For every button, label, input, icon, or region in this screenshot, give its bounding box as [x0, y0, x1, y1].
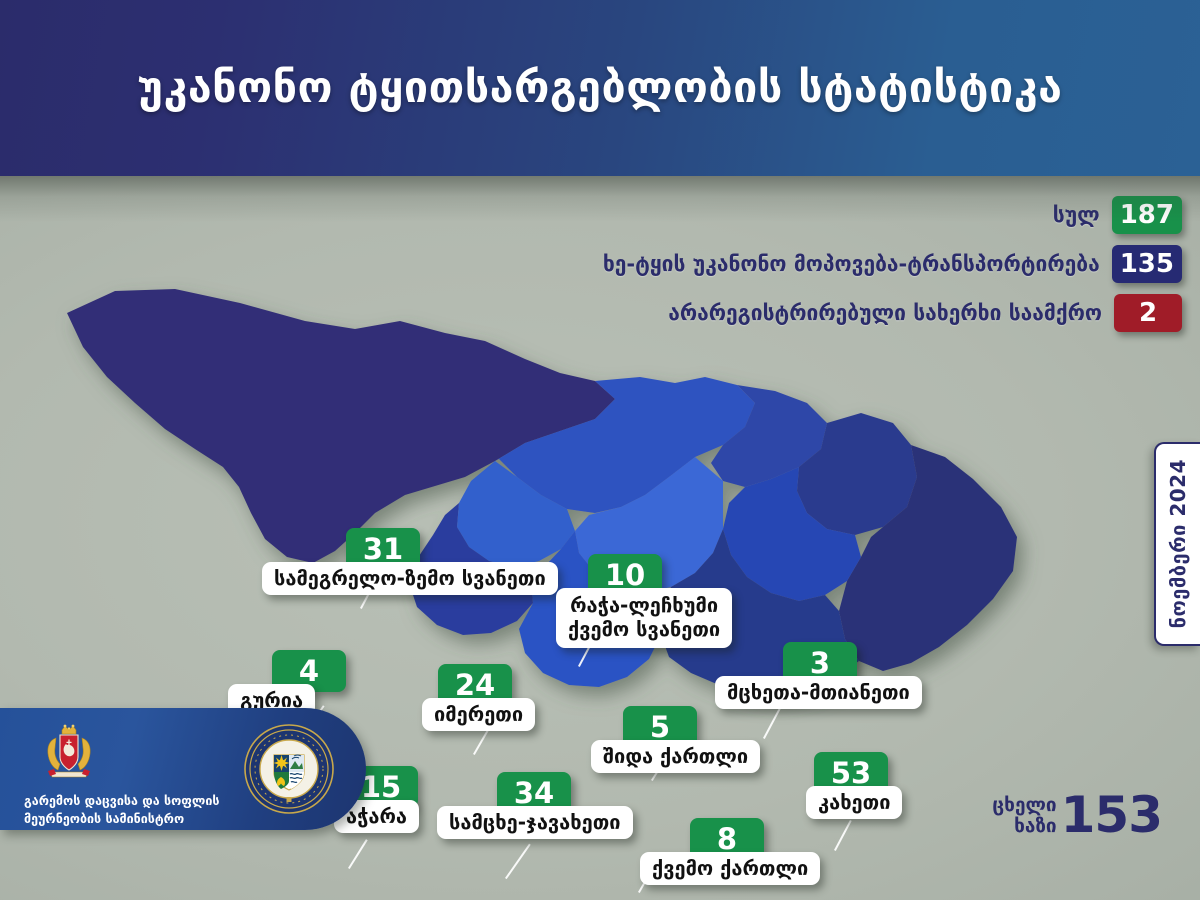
marker-label: კახეთი — [806, 786, 902, 819]
infographic-canvas: უკანონო ტყითსარგებლობის სტატისტიკა — [0, 0, 1200, 900]
leader-line — [834, 820, 852, 851]
legend-badge-illegal-logging: 135 — [1112, 245, 1182, 283]
marker-label: შიდა ქართლი — [591, 740, 760, 773]
marker-label: მცხეთა-მთიანეთი — [715, 676, 922, 709]
leader-line — [505, 844, 531, 880]
georgia-coat-of-arms-icon — [36, 724, 102, 784]
leader-line — [348, 839, 368, 869]
legend-label: ხე-ტყის უკანონო მოპოვება-ტრანსპორტირება — [603, 252, 1100, 276]
marker-label: ქვემო ქართლი — [640, 852, 820, 885]
hotline-number: 153 — [1061, 793, 1162, 838]
marker-label: სამეგრელო-ზემო სვანეთი — [262, 562, 558, 595]
legend-row-unregistered-sawmill: არარეგისტრირებული სახერხი საამქრო 2 — [668, 294, 1182, 332]
marker-label: სამცხე-ჯავახეთი — [437, 806, 633, 839]
page-title: უკანონო ტყითსარგებლობის სტატისტიკა — [0, 0, 1200, 176]
marker-label: რაჭა-ლეჩხუმი ქვემო სვანეთი — [556, 588, 732, 648]
date-tab-label: ნოემბერი 2024 — [1166, 459, 1190, 628]
marker-label: იმერეთი — [422, 698, 535, 731]
hotline: ცხელი ხაზი 153 — [992, 793, 1162, 838]
ministry-name: გარემოს დაცვისა და სოფლის მეურნეობის სამ… — [24, 792, 254, 828]
hotline-label: ცხელი ხაზი — [992, 795, 1056, 836]
ministry-emblem-icon — [243, 723, 335, 815]
header-shadow — [0, 176, 1200, 222]
date-tab: ნოემბერი 2024 — [1154, 442, 1200, 646]
legend-row-illegal-logging: ხე-ტყის უკანონო მოპოვება-ტრანსპორტირება … — [603, 245, 1182, 283]
legend-label: არარეგისტრირებული სახერხი საამქრო — [668, 301, 1102, 325]
header-banner: უკანონო ტყითსარგებლობის სტატისტიკა — [0, 0, 1200, 176]
legend-badge-unregistered-sawmill: 2 — [1114, 294, 1182, 332]
